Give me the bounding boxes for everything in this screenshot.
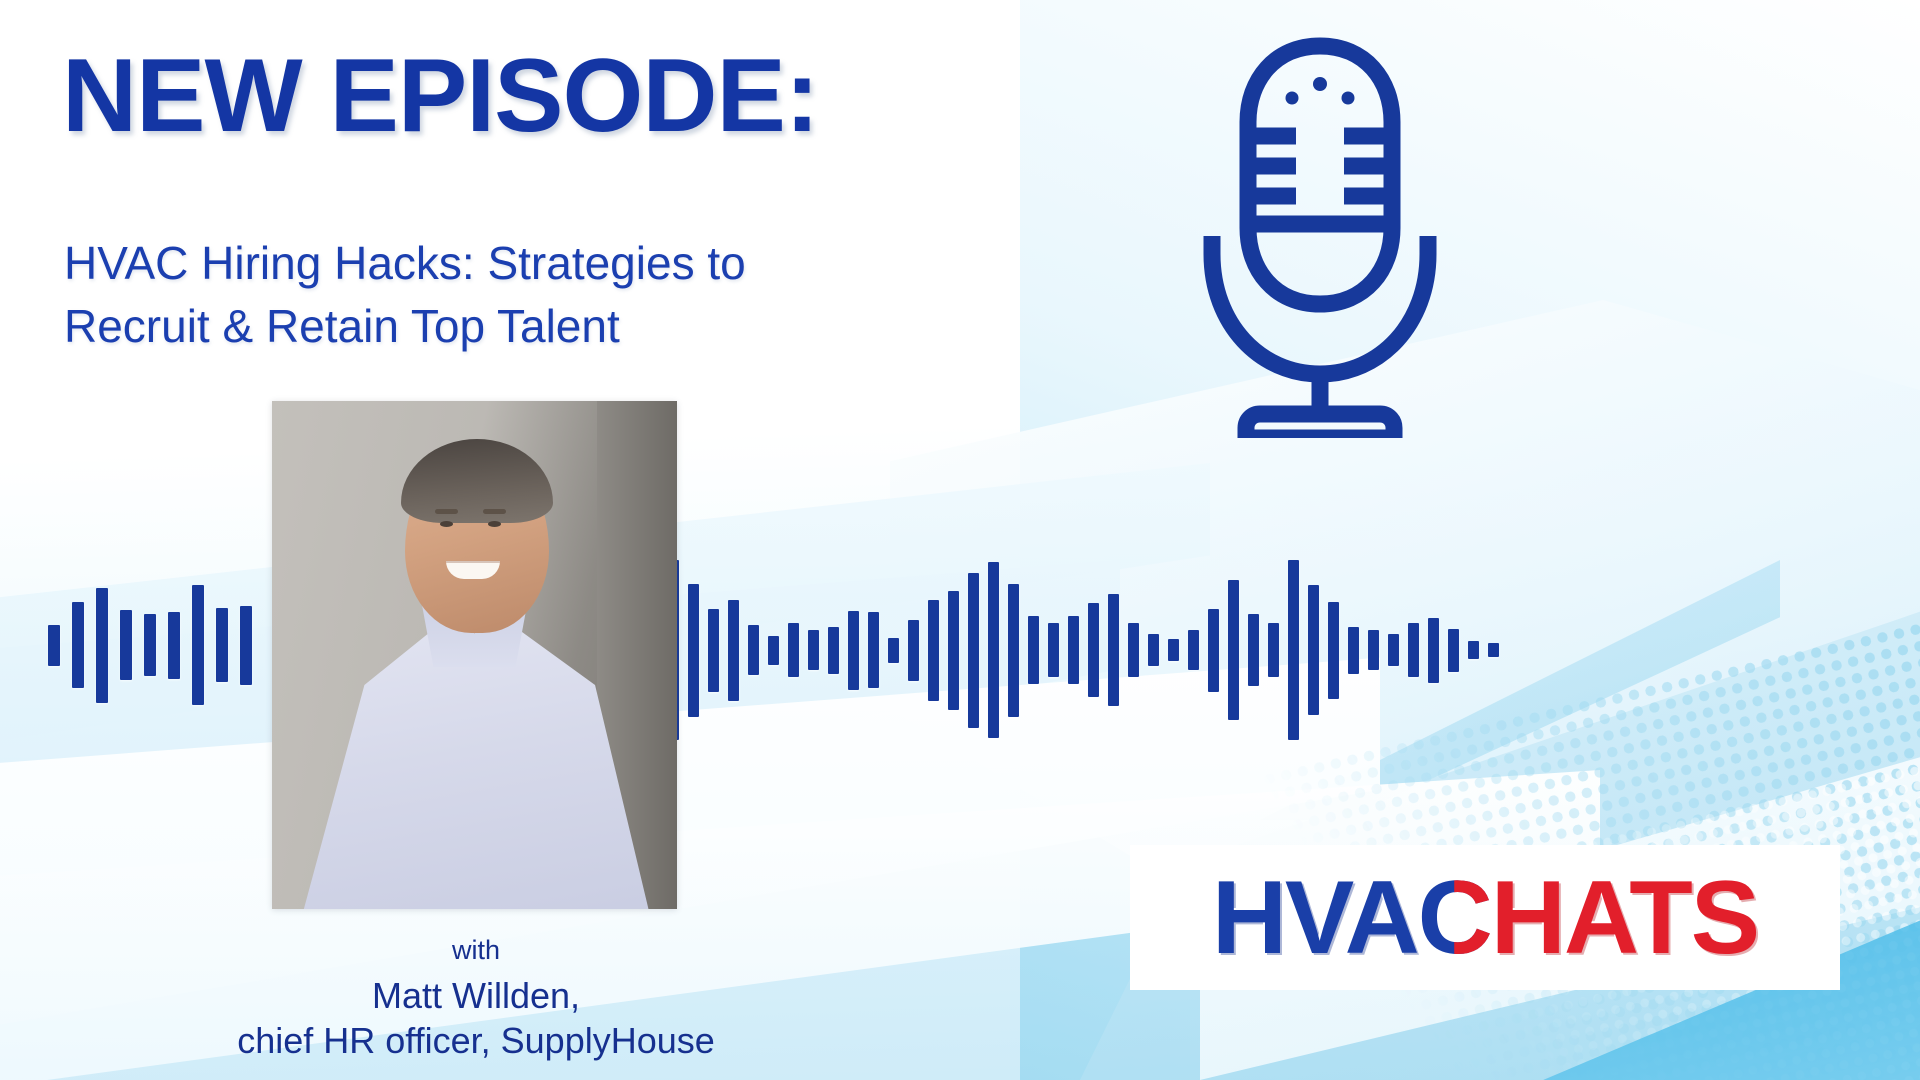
waveform-bar <box>144 614 156 676</box>
waveform-bar <box>748 625 759 675</box>
waveform-bar <box>788 623 799 677</box>
logo-part-blue: HVA <box>1212 866 1418 970</box>
waveform-bar <box>828 627 839 674</box>
waveform-bar <box>708 609 719 692</box>
waveform-bar <box>988 562 999 738</box>
logo-wordmark: HVACCHATS <box>1212 866 1758 970</box>
episode-subtitle-line-2: Recruit & Retain Top Talent <box>64 295 1074 358</box>
waveform-bar <box>72 602 84 688</box>
waveform-bar <box>1388 634 1399 666</box>
waveform-bar <box>1028 616 1039 684</box>
waveform-bar <box>1328 602 1339 699</box>
waveform-bar <box>1288 560 1299 740</box>
waveform-bar <box>1168 639 1179 661</box>
guest-name: Matt Willden, <box>172 975 780 1017</box>
photo-eye-left <box>440 521 453 527</box>
waveform-bar <box>240 606 252 685</box>
waveform-bar <box>168 612 180 679</box>
waveform-bar <box>1008 584 1019 717</box>
microphone-icon <box>1120 18 1520 438</box>
waveform-bar <box>1108 594 1119 706</box>
waveform-bar <box>968 573 979 728</box>
page-title: NEW EPISODE: <box>62 42 819 151</box>
waveform-bar <box>1468 641 1479 659</box>
waveform-bar <box>728 600 739 701</box>
guest-with-label: with <box>272 935 680 966</box>
waveform-bar <box>908 620 919 681</box>
waveform-bar <box>808 630 819 670</box>
photo-eye-right <box>488 521 501 527</box>
waveform-bar <box>1308 585 1319 715</box>
waveform-bar <box>1148 634 1159 666</box>
waveform-bar <box>948 591 959 710</box>
waveform-bar <box>1048 623 1059 677</box>
audio-waveform-right <box>568 560 1499 740</box>
waveform-bar <box>688 584 699 717</box>
waveform-bar <box>1208 609 1219 692</box>
waveform-bar <box>1128 623 1139 677</box>
waveform-bar <box>48 625 60 666</box>
hvachats-logo: HVACCHATS <box>1130 845 1840 990</box>
waveform-bar <box>1268 623 1279 677</box>
waveform-bar <box>1088 603 1099 697</box>
logo-part-red: HATS <box>1491 866 1758 970</box>
waveform-bar <box>1348 627 1359 674</box>
photo-eyebrow-right <box>483 509 506 514</box>
waveform-bar <box>96 588 108 703</box>
waveform-bar <box>192 585 204 705</box>
waveform-bar <box>928 600 939 701</box>
episode-subtitle: HVAC Hiring Hacks: Strategies to Recruit… <box>64 232 1074 359</box>
waveform-bar <box>1248 614 1259 686</box>
episode-subtitle-line-1: HVAC Hiring Hacks: Strategies to <box>64 232 1074 295</box>
waveform-bar <box>1228 580 1239 720</box>
waveform-bar <box>768 636 779 665</box>
waveform-bar <box>1448 629 1459 672</box>
waveform-bar <box>216 608 228 682</box>
waveform-bar <box>1408 623 1419 677</box>
photo-smile <box>446 561 500 579</box>
waveform-bar <box>1488 643 1499 657</box>
waveform-bar <box>1368 630 1379 670</box>
waveform-bar <box>1068 616 1079 684</box>
waveform-bar <box>888 638 899 663</box>
guest-role: chief HR officer, SupplyHouse <box>132 1020 820 1062</box>
waveform-bar <box>1188 630 1199 670</box>
photo-eyebrow-left <box>435 509 458 514</box>
waveform-bar <box>1428 618 1439 683</box>
guest-photo <box>272 401 677 909</box>
logo-part-split: CC <box>1418 866 1491 970</box>
audio-waveform-left <box>48 585 252 705</box>
waveform-bar <box>868 612 879 688</box>
waveform-bar <box>848 611 859 690</box>
waveform-bar <box>120 610 132 680</box>
promo-canvas: NEW EPISODE: HVAC Hiring Hacks: Strategi… <box>0 0 1920 1080</box>
